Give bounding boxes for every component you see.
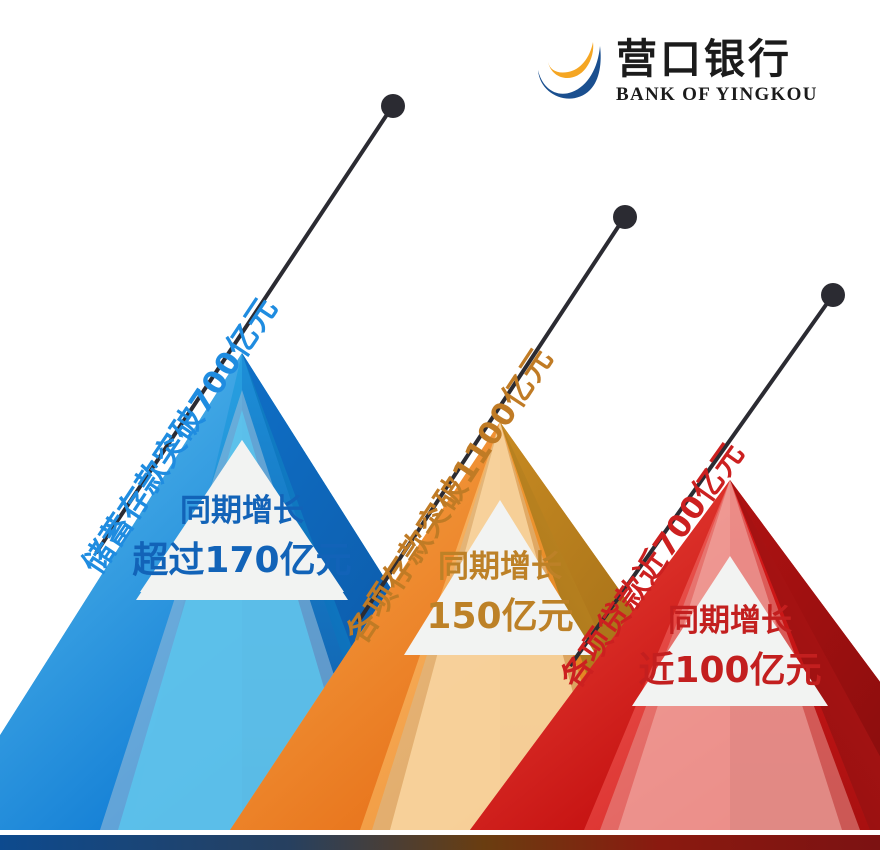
logo-text-block: 营口银行 BANK OF YINGKOU (616, 39, 818, 104)
caption-deposits-line1: 同期增长 (388, 548, 612, 588)
mountains-illustration (0, 0, 880, 850)
caption-total-deposits: 同期增长 150亿元 (388, 548, 612, 640)
base-gap (0, 830, 880, 835)
yingkou-swoosh-logo-icon (530, 34, 604, 108)
bank-name-cn: 营口银行 (616, 39, 818, 80)
caption-deposits-line2: 150亿元 (388, 594, 612, 640)
caption-total-loans: 同期增长 近100亿元 (618, 602, 842, 694)
bank-name-en: BANK OF YINGKOU (616, 85, 818, 104)
caption-loans-line1: 同期增长 (618, 602, 842, 642)
base-bar (0, 835, 880, 850)
bank-logo: 营口银行 BANK OF YINGKOU (530, 28, 850, 114)
caption-savings-line2: 超过170亿元 (122, 538, 362, 584)
caption-savings-line1: 同期增长 (122, 492, 362, 532)
caption-savings-deposits: 同期增长 超过170亿元 (122, 492, 362, 584)
caption-loans-line2: 近100亿元 (618, 648, 842, 694)
infographic-canvas: 营口银行 BANK OF YINGKOU 储蓄存款突破700亿元 各项存款突破1… (0, 0, 880, 850)
